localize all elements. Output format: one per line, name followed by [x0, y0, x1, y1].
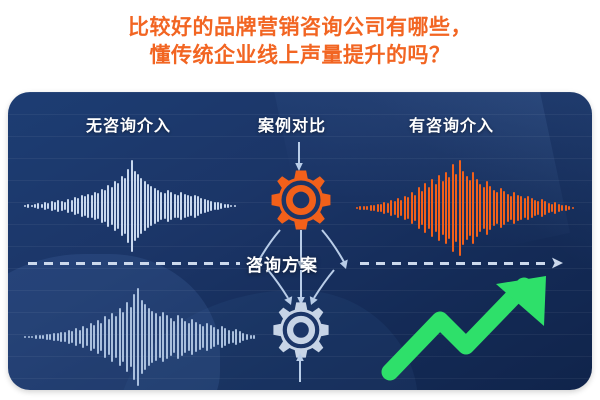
waveform-bar	[572, 207, 574, 210]
waveform-bar	[517, 195, 519, 222]
waveform-bar	[51, 201, 53, 211]
waveform-bar	[373, 205, 375, 211]
waveform-bar	[54, 202, 56, 211]
gear-icon-primary	[269, 168, 333, 232]
waveform-bar	[148, 308, 150, 367]
waveform-bar	[34, 204, 36, 209]
waveform-bar	[131, 160, 133, 252]
waveform-bar	[232, 331, 234, 343]
waveform-bar	[224, 328, 226, 346]
waveform-bar	[47, 203, 49, 210]
waveform-bar	[42, 335, 44, 339]
waveform-bar	[150, 186, 152, 226]
waveform-bar	[27, 204, 29, 208]
waveform-bar	[496, 192, 498, 225]
waveform-bar	[75, 328, 77, 346]
waveform-bar	[537, 201, 539, 214]
waveform-bar	[500, 188, 502, 228]
waveform-bar	[108, 319, 110, 354]
waveform-bar	[227, 204, 229, 208]
waveform-bar	[397, 198, 399, 217]
waveform-bar	[119, 308, 121, 367]
waveform-bar	[53, 333, 55, 342]
waveform-bar	[57, 333, 59, 341]
waveform-bar	[194, 195, 196, 218]
waveform-bar	[228, 330, 230, 344]
waveform-bar	[400, 200, 402, 216]
waveform-bar	[472, 172, 474, 243]
waveform-bar	[217, 202, 219, 210]
waveform-bar	[200, 198, 202, 214]
waveform-bar	[548, 203, 550, 214]
waveform-bar	[82, 326, 84, 348]
waveform-bar	[394, 201, 396, 214]
waveform-bar	[462, 171, 464, 246]
waveform-bar	[554, 202, 556, 214]
waveform-bar	[159, 316, 161, 357]
waveform-bar	[97, 193, 99, 220]
waveform-bar	[204, 199, 206, 213]
waveform-bar	[177, 195, 179, 218]
waveform-bar	[380, 204, 382, 212]
waveform-bar	[510, 196, 512, 221]
waveform-bar	[414, 195, 416, 222]
waveform-bar	[356, 207, 358, 210]
waveform-bar	[91, 195, 93, 218]
waveform-bar	[187, 195, 189, 216]
waveform-bar	[513, 192, 515, 225]
waveform-bar	[221, 326, 223, 348]
waveform-bar	[359, 206, 361, 210]
gear-icon-secondary	[271, 300, 331, 360]
waveform-bar	[253, 335, 255, 339]
waveform-bar	[170, 318, 172, 355]
waveform-bar	[180, 192, 182, 221]
waveform-bar	[104, 316, 106, 357]
waveform-bar	[390, 200, 392, 215]
waveform-bar	[71, 200, 73, 212]
waveform-bar	[363, 206, 365, 211]
waveform-bar	[151, 311, 153, 364]
waveform-bar	[207, 200, 209, 212]
waveform-bar	[210, 325, 212, 349]
waveform-bar	[448, 177, 450, 238]
waveform-bar	[87, 194, 89, 219]
waveform-bar	[246, 334, 248, 341]
waveform-bar	[144, 304, 146, 371]
waveform-bar	[93, 325, 95, 349]
waveform-bar	[86, 328, 88, 347]
label-case-comparison: 案例对比	[258, 112, 326, 136]
waveform-bar	[224, 204, 226, 209]
waveform-bar	[184, 194, 186, 219]
waveform-bar	[147, 184, 149, 228]
waveform-bar	[565, 205, 567, 211]
waveform-bar	[97, 320, 99, 353]
waveform-bar	[214, 202, 216, 211]
waveform-bar	[140, 178, 142, 234]
waveform-bar	[126, 302, 128, 373]
waveform-bar	[561, 205, 563, 212]
waveform-no-consulting	[24, 160, 236, 252]
waveform-bar	[428, 187, 430, 229]
waveform-bar	[100, 323, 102, 351]
dashed-line-left-segment	[28, 262, 240, 265]
waveform-bar	[466, 176, 468, 239]
waveform-bar	[455, 174, 457, 241]
label-with-consulting: 有咨询介入	[409, 112, 494, 136]
waveform-bar	[534, 200, 536, 216]
waveform-bar	[541, 199, 543, 216]
waveform-bar	[160, 192, 162, 221]
waveform-bar	[166, 315, 168, 358]
label-no-consulting: 无咨询介入	[86, 112, 171, 136]
waveform-bar	[377, 204, 379, 213]
waveform-bar	[122, 312, 124, 363]
waveform-bar	[115, 316, 117, 358]
waveform-bar	[558, 204, 560, 213]
waveform-bar	[154, 188, 156, 224]
connector-up-to-gear-icon	[294, 352, 306, 382]
waveform-bar	[157, 190, 159, 223]
waveform-bar	[531, 198, 533, 218]
waveform-bar	[366, 206, 368, 210]
waveform-bar	[206, 323, 208, 350]
waveform-bar	[107, 185, 109, 227]
waveform-bar	[489, 186, 491, 230]
waveform-bar	[137, 174, 139, 237]
waveform-bar	[479, 184, 481, 232]
waveform-bar	[431, 179, 433, 237]
waveform-bar	[217, 329, 219, 346]
waveform-bar	[37, 203, 39, 209]
waveform-bar	[164, 193, 166, 220]
waveform-bar	[503, 191, 505, 226]
waveform-bar	[424, 183, 426, 233]
waveform-bar	[476, 179, 478, 237]
waveform-bar	[234, 205, 236, 208]
waveform-bar	[144, 181, 146, 231]
waveform-bar	[435, 184, 437, 232]
waveform-bar	[31, 336, 33, 338]
waveform-bar	[190, 196, 192, 215]
waveform-bar	[210, 201, 212, 212]
waveform-bar	[117, 183, 119, 229]
waveform-bar	[452, 164, 454, 252]
waveform-bar	[35, 335, 37, 339]
waveform-bar	[141, 300, 143, 374]
waveform-bar	[111, 187, 113, 225]
waveform-bar	[90, 323, 92, 350]
page-title: 比较好的品牌营销咨询公司有哪些， 懂传统企业线上声量提升的吗？	[0, 14, 600, 69]
waveform-bar	[77, 198, 79, 213]
waveform-bar	[114, 181, 116, 231]
waveform-bar	[527, 196, 529, 221]
waveform-bar	[213, 327, 215, 347]
waveform-bar	[411, 192, 413, 225]
waveform-bar	[130, 307, 132, 368]
waveform-bar	[162, 312, 164, 363]
waveform-bar	[524, 198, 526, 217]
waveform-bar	[445, 172, 447, 245]
waveform-bar	[57, 200, 59, 212]
waveform-bar	[137, 288, 139, 386]
waveform-bar	[28, 336, 30, 339]
waveform-bar	[121, 176, 123, 235]
waveform-bar	[230, 205, 232, 208]
infographic-page: 比较好的品牌营销咨询公司有哪些， 懂传统企业线上声量提升的吗？ 无咨询介入 案例…	[0, 0, 600, 400]
waveform-bar	[421, 191, 423, 226]
trending-up-arrow-icon	[378, 272, 570, 384]
waveform-bar	[220, 203, 222, 209]
waveform-bar	[101, 189, 103, 224]
waveform-bar	[507, 194, 509, 223]
waveform-bar	[41, 204, 43, 209]
waveform-bar	[493, 190, 495, 226]
waveform-bar	[167, 190, 169, 223]
waveform-bar	[84, 196, 86, 215]
waveform-bar	[173, 321, 175, 353]
waveform-bar	[469, 180, 471, 236]
waveform-bar	[174, 194, 176, 219]
waveform-bar	[111, 313, 113, 362]
waveform-bar	[181, 318, 183, 355]
waveform-bar	[104, 190, 106, 222]
waveform-bar	[134, 171, 136, 242]
waveform-bar	[24, 205, 26, 208]
waveform-bar	[191, 319, 193, 354]
waveform-bar	[127, 169, 129, 244]
waveform-bar	[459, 160, 461, 256]
waveform-bar	[370, 205, 372, 212]
waveform-bar	[60, 332, 62, 343]
waveform-bar	[520, 196, 522, 219]
waveform-bar	[64, 332, 66, 342]
waveform-bar	[197, 196, 199, 215]
waveform-bar	[170, 192, 172, 221]
waveform-bar	[39, 335, 41, 340]
waveform-bar	[387, 203, 389, 213]
waveform-bar	[67, 199, 69, 212]
page-title-line-1: 比较好的品牌营销咨询公司有哪些，	[0, 14, 600, 42]
waveform-bar	[483, 187, 485, 229]
waveform-with-consulting	[356, 160, 574, 256]
waveform-bar	[188, 323, 190, 350]
waveform-bar	[250, 335, 252, 340]
waveform-bar	[124, 178, 126, 234]
waveform-bar	[68, 330, 70, 344]
waveform-bar	[81, 195, 83, 216]
waveform-bar	[44, 202, 46, 210]
waveform-bar	[418, 187, 420, 229]
waveform-bar	[404, 196, 406, 221]
waveform-bar	[184, 321, 186, 352]
waveform-bar	[551, 204, 553, 213]
waveform-bar	[544, 201, 546, 214]
waveform-bar	[31, 205, 33, 208]
waveform-bar	[235, 329, 237, 345]
dashed-line-right	[360, 262, 550, 265]
waveform-after-plan	[24, 288, 256, 386]
waveform-bar	[49, 334, 51, 340]
waveform-bar	[74, 197, 76, 214]
arrow-right-icon	[550, 256, 564, 270]
waveform-bar	[568, 206, 570, 210]
waveform-bar	[177, 315, 179, 358]
waveform-bar	[199, 324, 201, 349]
page-title-line-2: 懂传统企业线上声量提升的吗？	[0, 42, 600, 70]
waveform-bar	[242, 333, 244, 342]
waveform-bar	[202, 326, 204, 348]
waveform-bar	[239, 331, 241, 343]
waveform-bar	[133, 294, 135, 380]
waveform-bar	[71, 331, 73, 343]
waveform-bar	[155, 313, 157, 360]
waveform-bar	[46, 334, 48, 341]
waveform-bar	[438, 175, 440, 240]
waveform-bar	[195, 322, 197, 351]
waveform-bar	[94, 192, 96, 221]
waveform-bar	[407, 197, 409, 218]
waveform-bar	[383, 202, 385, 214]
dashed-line-left	[28, 262, 240, 265]
waveform-bar	[61, 201, 63, 212]
waveform-bar	[79, 330, 81, 345]
waveform-bar	[442, 181, 444, 235]
dashed-line-right-segment	[360, 262, 550, 265]
waveform-bar	[64, 202, 66, 211]
waveform-bar	[24, 336, 26, 338]
waveform-bar	[486, 181, 488, 235]
